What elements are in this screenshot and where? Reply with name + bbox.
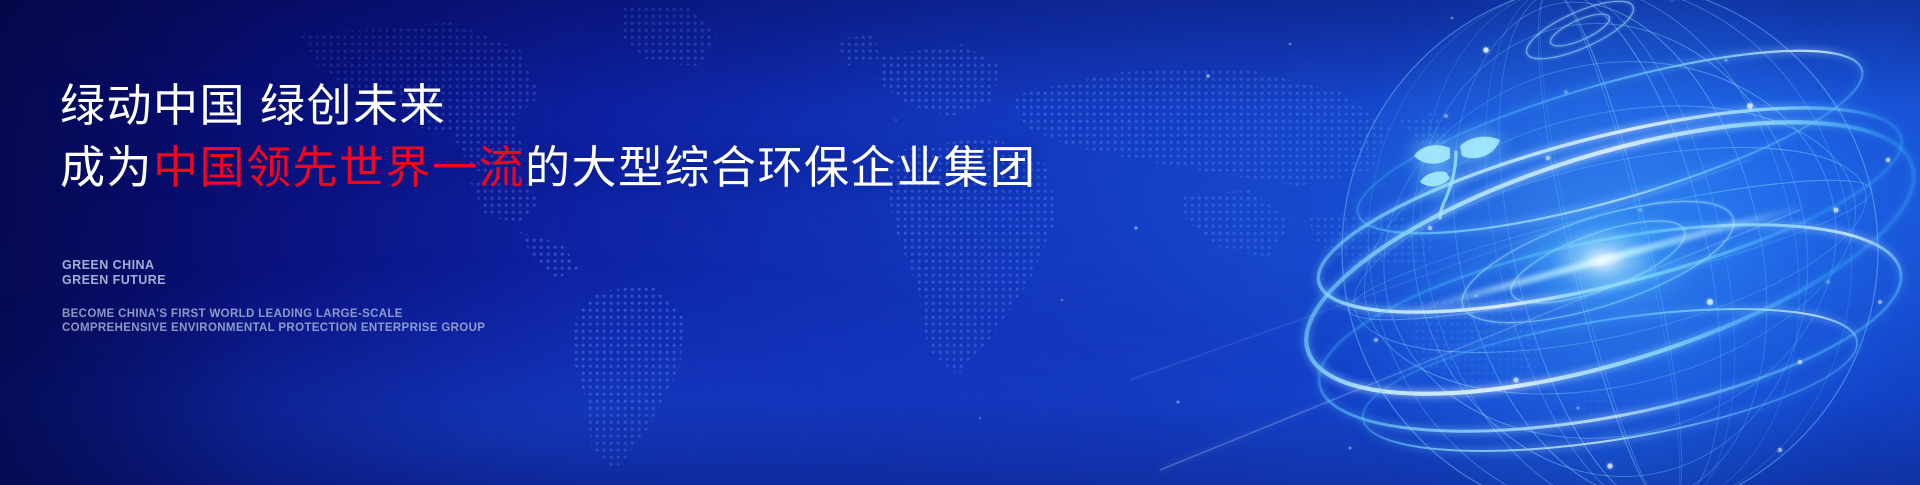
caption-line-1: BECOME CHINA'S FIRST WORLD LEADING LARGE… <box>62 308 485 322</box>
tagline-line-2: GREEN FUTURE <box>62 273 166 288</box>
headline-line-2-highlight: 中国领先世界一流 <box>153 142 525 193</box>
headline-line-2-suffix: 的大型综合环保企业集团 <box>525 142 1037 193</box>
copy-block: 绿动中国 绿创未来 成为中国领先世界一流的大型综合环保企业集团 GREEN CH… <box>60 0 1110 485</box>
caption-line-2: COMPREHENSIVE ENVIRONMENTAL PROTECTION E… <box>62 322 485 336</box>
tagline-line-1: GREEN CHINA <box>62 258 166 273</box>
page-title: 绿动中国 绿创未来 成为中国领先世界一流的大型综合环保企业集团 <box>60 78 1037 196</box>
hero-banner: 绿动中国 绿创未来 成为中国领先世界一流的大型综合环保企业集团 GREEN CH… <box>0 0 1920 485</box>
headline-line-2-prefix: 成为 <box>60 142 153 193</box>
tagline: GREEN CHINA GREEN FUTURE <box>62 258 166 287</box>
headline-line-2: 成为中国领先世界一流的大型综合环保企业集团 <box>60 140 1037 196</box>
caption: BECOME CHINA'S FIRST WORLD LEADING LARGE… <box>62 308 485 335</box>
headline-line-1: 绿动中国 绿创未来 <box>60 80 446 131</box>
